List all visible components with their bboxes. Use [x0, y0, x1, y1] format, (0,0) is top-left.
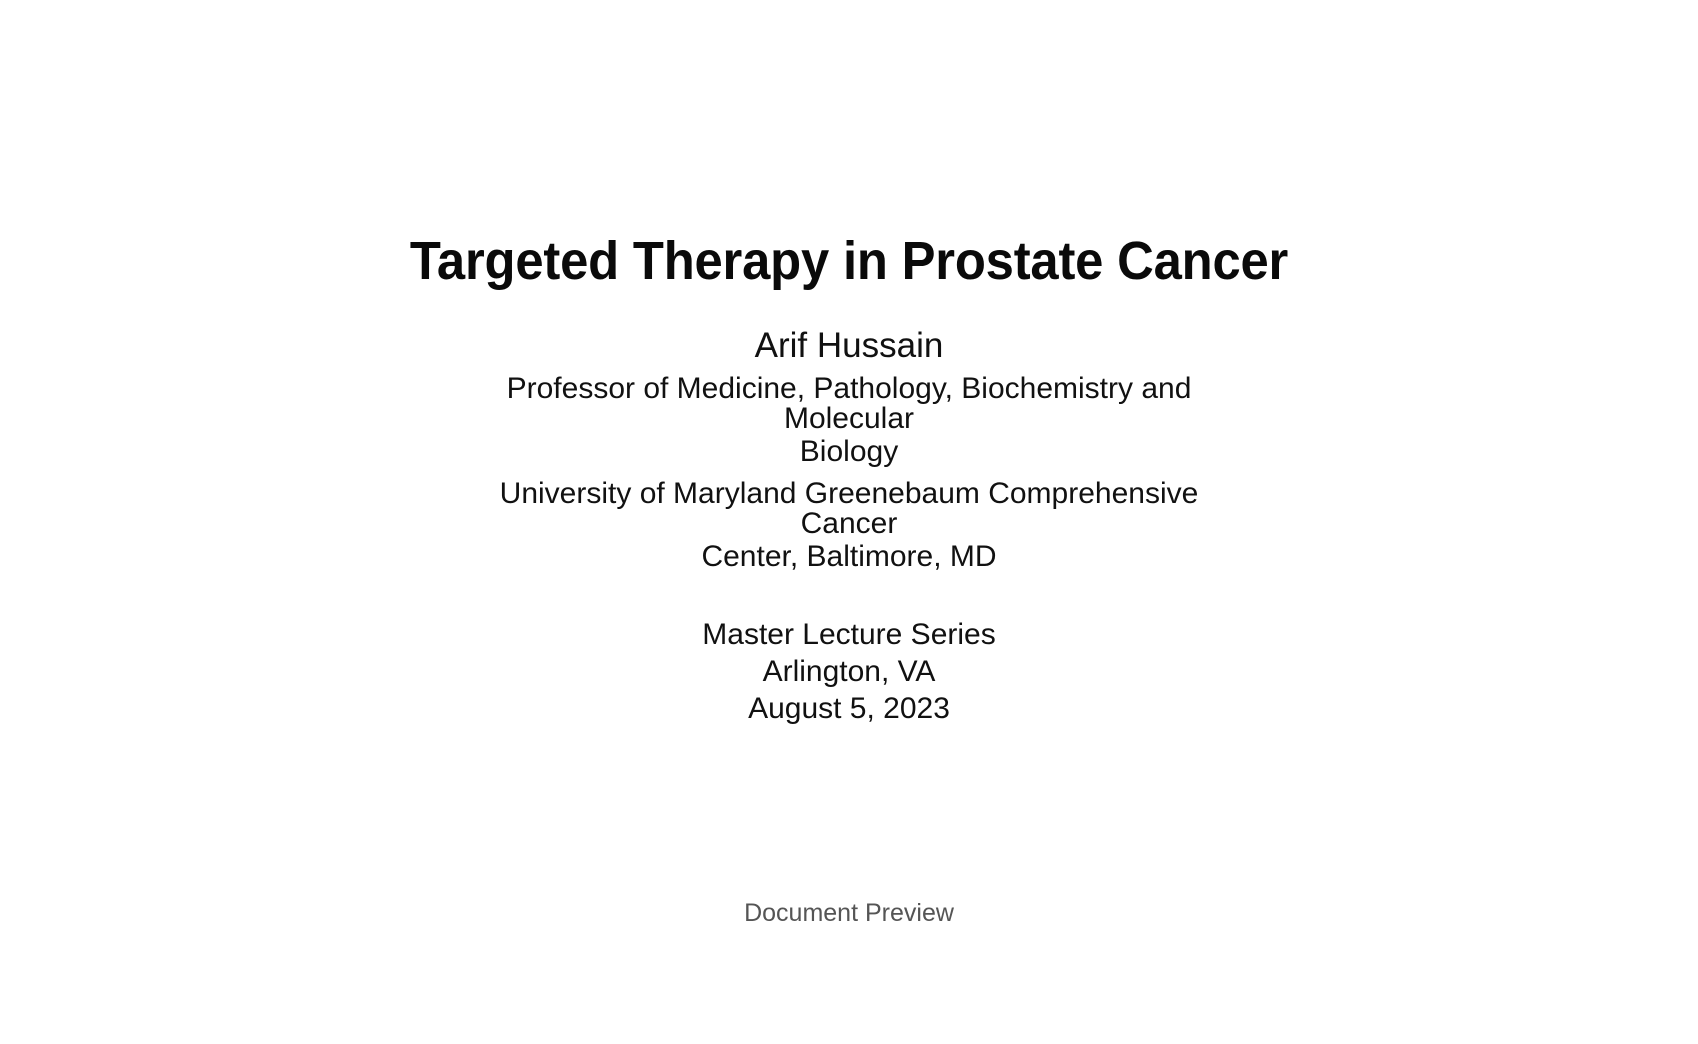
institution-line-2: Center, Baltimore, MD [449, 542, 1249, 572]
event-series-name: Master Lecture Series [499, 620, 1199, 650]
presenter-affiliation-block: Professor of Medicine, Pathology, Bioche… [449, 374, 1249, 467]
affiliation-line-2: Biology [449, 437, 1249, 467]
page-title: Targeted Therapy in Prostate Cancer [51, 232, 1647, 290]
institution-line-1: University of Maryland Greenebaum Compre… [449, 479, 1249, 539]
institution-block: University of Maryland Greenebaum Compre… [449, 479, 1249, 572]
event-details-block: Master Lecture Series Arlington, VA Augu… [499, 620, 1199, 724]
document-preview-caption: Document Preview [0, 898, 1698, 928]
slide-canvas: Targeted Therapy in Prostate Cancer Arif… [0, 0, 1698, 1044]
document-preview-page: Targeted Therapy in Prostate Cancer Arif… [0, 0, 1698, 1044]
presenter-name: Arif Hussain [399, 325, 1299, 366]
event-date: August 5, 2023 [499, 694, 1199, 724]
presenter-name-block: Arif Hussain [399, 325, 1299, 366]
event-location: Arlington, VA [499, 657, 1199, 687]
affiliation-line-1: Professor of Medicine, Pathology, Bioche… [449, 374, 1249, 434]
